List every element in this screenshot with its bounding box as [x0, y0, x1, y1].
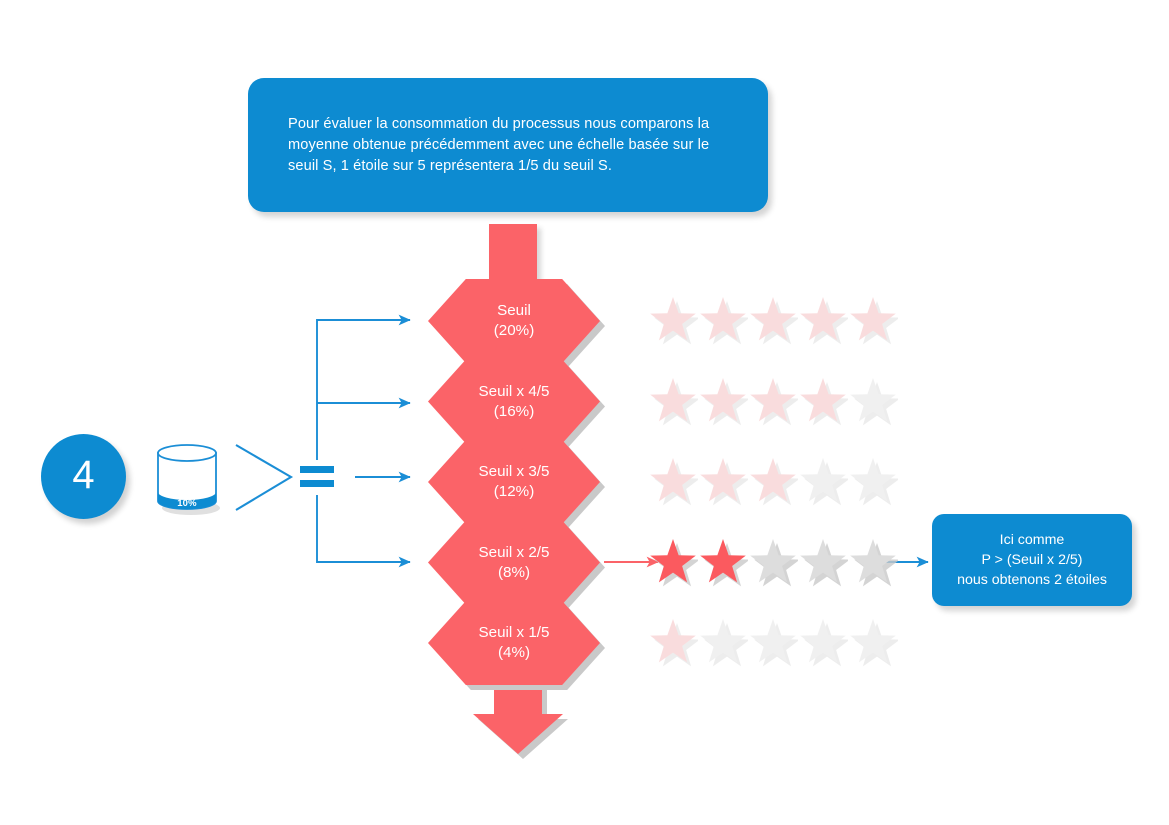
star-icon [748, 296, 798, 346]
star-rating-row [648, 617, 898, 669]
threshold-value: (12%) [479, 482, 550, 502]
star-icon [648, 538, 698, 588]
star-rating-row [648, 295, 898, 347]
star-icon [648, 457, 698, 507]
star-icon [648, 296, 698, 346]
star-icon [848, 618, 898, 668]
equals-sign-icon [300, 463, 336, 491]
branch-connectors-upper [317, 320, 410, 460]
branch-connectors-lower [317, 495, 410, 562]
star-rating-row [648, 456, 898, 508]
star-icon [848, 296, 898, 346]
star-icon [848, 377, 898, 427]
star-icon [848, 538, 898, 588]
star-icon [698, 618, 748, 668]
threshold-title: Seuil x 2/5 [479, 543, 550, 563]
threshold-title: Seuil x 1/5 [479, 623, 550, 643]
star-icon [748, 377, 798, 427]
step-number-badge: 4 [41, 434, 126, 519]
result-callout: Ici commeP > (Seuil x 2/5)nous obtenons … [932, 514, 1132, 606]
threshold-value: (16%) [479, 402, 550, 422]
star-icon [798, 296, 848, 346]
star-icon [698, 296, 748, 346]
result-callout-line: nous obtenons 2 étoiles [932, 570, 1132, 590]
result-callout-line: P > (Seuil x 2/5) [932, 550, 1132, 570]
star-icon [748, 457, 798, 507]
threshold-value: (8%) [479, 563, 550, 583]
flow-arrow-bottom [473, 681, 568, 759]
star-icon [698, 377, 748, 427]
threshold-title: Seuil x 3/5 [479, 462, 550, 482]
star-rating-row [648, 376, 898, 428]
threshold-value: (20%) [494, 321, 535, 341]
intro-callout-text: Pour évaluer la consommation du processu… [288, 114, 740, 177]
result-callout-text: Ici commeP > (Seuil x 2/5)nous obtenons … [932, 530, 1132, 590]
result-callout-line: Ici comme [932, 530, 1132, 550]
intro-callout: Pour évaluer la consommation du processu… [248, 78, 768, 212]
star-icon [798, 457, 848, 507]
star-icon [748, 538, 798, 588]
star-icon [698, 457, 748, 507]
threshold-title: Seuil x 4/5 [479, 382, 550, 402]
star-icon [798, 618, 848, 668]
star-icon [748, 618, 798, 668]
star-icon [848, 457, 898, 507]
database-cylinder-icon: 10% [149, 439, 225, 515]
star-icon [798, 377, 848, 427]
threshold-value: (4%) [479, 643, 550, 663]
diagram-canvas: Pour évaluer la consommation du processu… [0, 0, 1169, 825]
greater-than-icon [236, 445, 291, 510]
star-icon [648, 618, 698, 668]
step-number-label: 4 [72, 455, 94, 495]
star-icon [698, 538, 748, 588]
star-icon [798, 538, 848, 588]
threshold-title: Seuil [494, 301, 535, 321]
star-rating-row [648, 537, 898, 589]
star-icon [648, 377, 698, 427]
